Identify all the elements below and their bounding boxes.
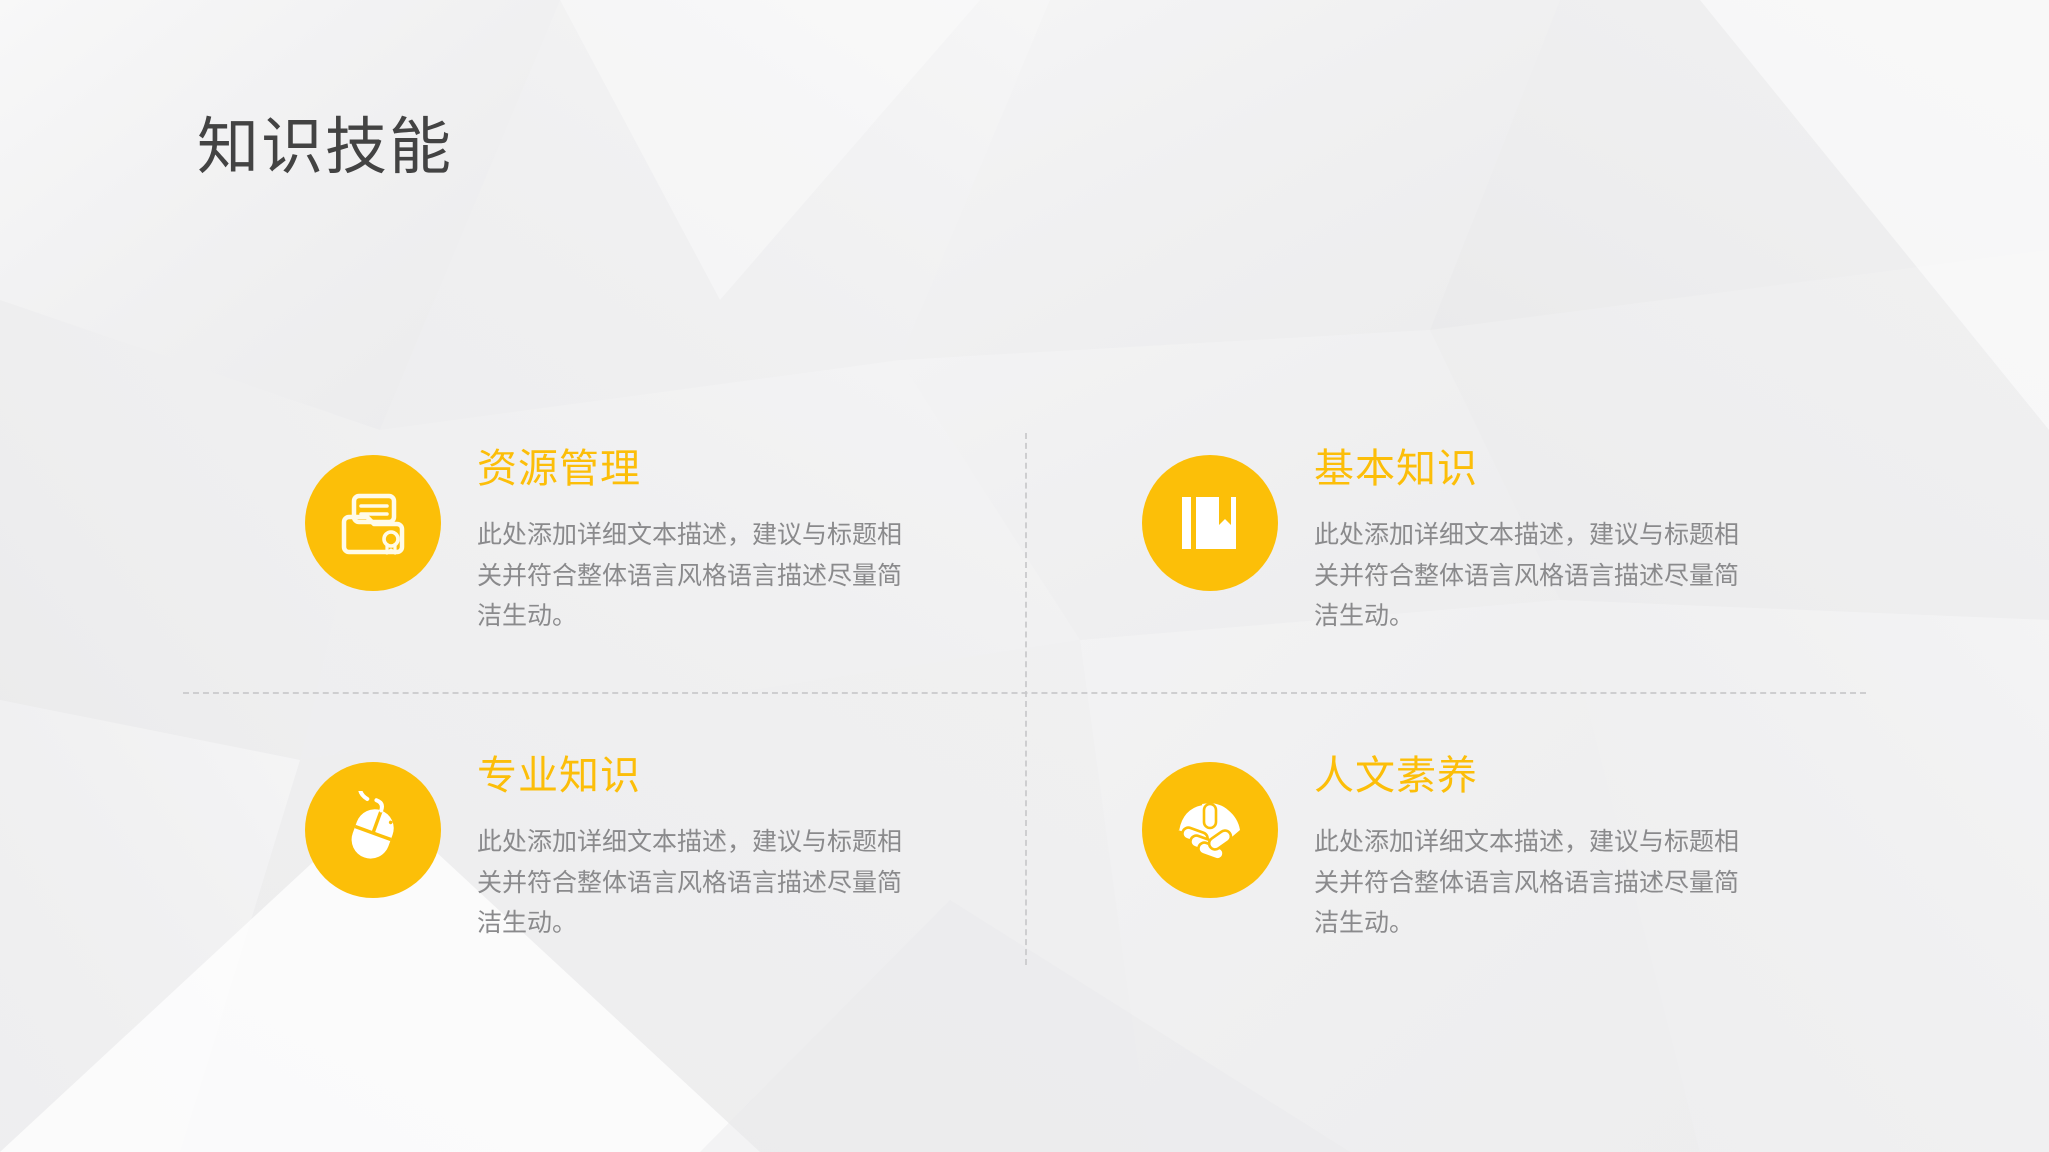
feature-text-block: 资源管理 此处添加详细文本描述，建议与标题相关并符合整体语言风格语言描述尽量简洁… xyxy=(477,445,907,637)
feature-grid: 资源管理 此处添加详细文本描述，建议与标题相关并符合整体语言风格语言描述尽量简洁… xyxy=(0,0,2049,1152)
feature-description: 此处添加详细文本描述，建议与标题相关并符合整体语言风格语言描述尽量简洁生动。 xyxy=(1314,515,1744,637)
feature-title: 人文素养 xyxy=(1314,752,1744,800)
feature-text-block: 基本知识 此处添加详细文本描述，建议与标题相关并符合整体语言风格语言描述尽量简洁… xyxy=(1314,445,1744,637)
feature-item-basic-knowledge[interactable]: 基本知识 此处添加详细文本描述，建议与标题相关并符合整体语言风格语言描述尽量简洁… xyxy=(1142,445,1744,637)
feature-item-humanistic-literacy[interactable]: 人文素养 此处添加详细文本描述，建议与标题相关并符合整体语言风格语言描述尽量简洁… xyxy=(1142,752,1744,944)
feature-item-professional-knowledge[interactable]: 专业知识 此处添加详细文本描述，建议与标题相关并符合整体语言风格语言描述尽量简洁… xyxy=(305,752,907,944)
feature-text-block: 人文素养 此处添加详细文本描述，建议与标题相关并符合整体语言风格语言描述尽量简洁… xyxy=(1314,752,1744,944)
feature-description: 此处添加详细文本描述，建议与标题相关并符合整体语言风格语言描述尽量简洁生动。 xyxy=(1314,822,1744,944)
feature-item-resource-management[interactable]: 资源管理 此处添加详细文本描述，建议与标题相关并符合整体语言风格语言描述尽量简洁… xyxy=(305,445,907,637)
feature-title: 资源管理 xyxy=(477,445,907,493)
computer-mouse-icon xyxy=(305,762,441,898)
feature-title: 专业知识 xyxy=(477,752,907,800)
handshake-icon xyxy=(1142,762,1278,898)
feature-description: 此处添加详细文本描述，建议与标题相关并符合整体语言风格语言描述尽量简洁生动。 xyxy=(477,822,907,944)
feature-title: 基本知识 xyxy=(1314,445,1744,493)
feature-description: 此处添加详细文本描述，建议与标题相关并符合整体语言风格语言描述尽量简洁生动。 xyxy=(477,515,907,637)
archive-folder-icon xyxy=(305,455,441,591)
slide-canvas: 知识技能 资源管理 此处添加详细文本描述，建议与标题相关并符合整体语言风格语言描… xyxy=(0,0,2049,1152)
book-bookmark-icon xyxy=(1142,455,1278,591)
feature-text-block: 专业知识 此处添加详细文本描述，建议与标题相关并符合整体语言风格语言描述尽量简洁… xyxy=(477,752,907,944)
